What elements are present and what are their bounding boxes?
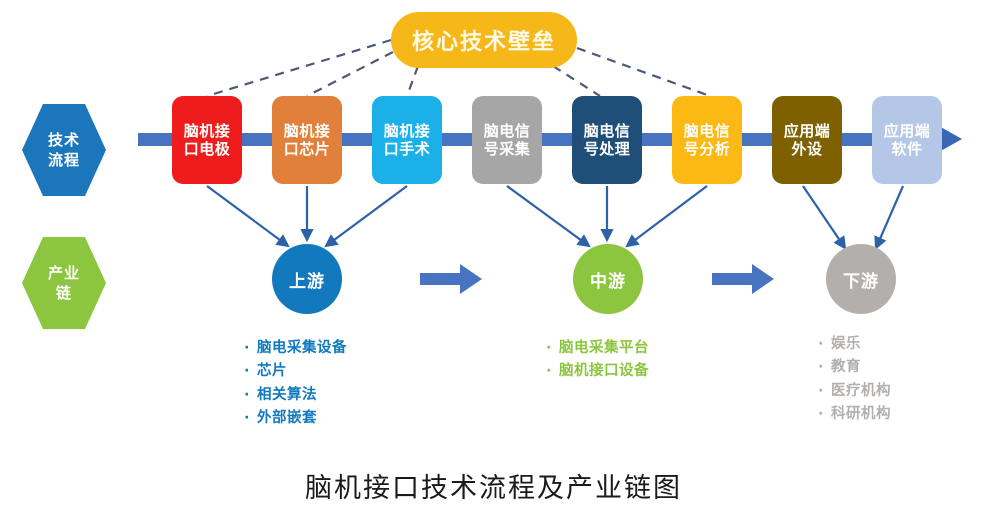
stage-arrow-midstream-to-downstream <box>712 264 774 294</box>
bullet-dot-icon: · <box>546 337 559 360</box>
process-box-analysis-line2: 号分析 <box>684 140 731 158</box>
bullet-dot-icon: · <box>244 337 257 360</box>
process-box-chip-line2: 口芯片 <box>284 140 331 158</box>
bullet-dot-icon: · <box>244 360 257 383</box>
downstream-item-3: 科研机构 <box>831 406 891 422</box>
downstream-item-list: ·娱乐 ·教育 ·医疗机构 ·科研机构 <box>818 333 891 427</box>
process-box-peripheral-line1: 应用端 <box>784 122 831 140</box>
bullet-dot-icon: · <box>818 403 831 426</box>
process-box-signal-acquisition[interactable]: 脑电信 号采集 <box>472 96 542 184</box>
downstream-item-1: 教育 <box>831 359 861 375</box>
list-item: ·教育 <box>818 356 891 379</box>
list-item: ·脑电采集设备 <box>244 337 347 360</box>
downstream-item-0: 娱乐 <box>831 336 861 352</box>
process-box-processing-line1: 脑电信 <box>584 122 631 140</box>
bullet-dot-icon: · <box>818 356 831 379</box>
process-box-electrode-line2: 口电极 <box>184 140 231 158</box>
dashed-link-processing <box>553 66 600 96</box>
arrow-peripheral-downstream <box>803 186 845 248</box>
arrow-electrode-upstream <box>207 186 288 246</box>
dashed-link-analysis <box>577 48 710 96</box>
arrow-analysis-midstream <box>627 186 707 246</box>
chain-node-downstream[interactable]: 下游 <box>826 244 896 314</box>
process-box-surgery-line1: 脑机接 <box>384 122 431 140</box>
hexagon-industry-line2: 链 <box>56 283 72 303</box>
process-box-software-line1: 应用端 <box>884 122 931 140</box>
upstream-item-list: ·脑电采集设备 ·芯片 ·相关算法 ·外部嵌套 <box>244 337 347 431</box>
process-box-surgery-line2: 口手术 <box>384 140 431 158</box>
list-item: ·外部嵌套 <box>244 407 347 430</box>
process-box-analysis-line1: 脑电信 <box>684 122 731 140</box>
figure-caption: 脑机接口技术流程及产业链图 <box>0 466 987 505</box>
dashed-link-surgery <box>407 66 418 96</box>
midstream-item-list: ·脑电采集平台 ·脑机接口设备 <box>546 337 649 384</box>
upstream-item-1: 芯片 <box>257 363 287 379</box>
dashed-link-chip <box>307 52 393 96</box>
downstream-item-2: 医疗机构 <box>831 383 891 399</box>
list-item: ·相关算法 <box>244 384 347 407</box>
process-box-processing-line2: 号处理 <box>584 140 631 158</box>
process-box-chip-line1: 脑机接 <box>284 122 331 140</box>
chain-node-upstream[interactable]: 上游 <box>272 244 342 314</box>
arrow-surgery-upstream <box>326 186 407 246</box>
arrow-software-downstream <box>876 186 903 248</box>
chain-arrows <box>207 186 903 248</box>
process-box-acquisition-line2: 号采集 <box>484 140 531 158</box>
core-barrier-box[interactable]: 核心技术壁垒 <box>391 12 577 68</box>
dashed-link-electrode <box>207 40 391 96</box>
category-hexagon-industry-chain[interactable]: 产业 链 <box>22 237 106 329</box>
list-item: ·芯片 <box>244 360 347 383</box>
process-box-acquisition-line1: 脑电信 <box>484 122 531 140</box>
hexagon-technology-line1: 技术 <box>48 130 80 150</box>
process-box-application-software[interactable]: 应用端 软件 <box>872 96 942 184</box>
list-item: ·脑机接口设备 <box>546 360 649 383</box>
process-box-signal-analysis[interactable]: 脑电信 号分析 <box>672 96 742 184</box>
process-box-signal-processing[interactable]: 脑电信 号处理 <box>572 96 642 184</box>
hexagon-technology-line2: 流程 <box>48 150 80 170</box>
upstream-item-0: 脑电采集设备 <box>257 340 347 356</box>
chain-node-midstream[interactable]: 中游 <box>573 244 643 314</box>
arrow-acquisition-midstream <box>507 186 589 246</box>
bullet-dot-icon: · <box>818 333 831 356</box>
process-box-application-peripheral[interactable]: 应用端 外设 <box>772 96 842 184</box>
upstream-item-3: 外部嵌套 <box>257 410 317 426</box>
list-item: ·脑电采集平台 <box>546 337 649 360</box>
midstream-item-1: 脑机接口设备 <box>559 363 649 379</box>
list-item: ·科研机构 <box>818 403 891 426</box>
stage-arrow-upstream-to-midstream <box>420 264 482 294</box>
process-box-chip[interactable]: 脑机接 口芯片 <box>272 96 342 184</box>
hexagon-industry-line1: 产业 <box>48 263 80 283</box>
diagram-canvas: 核心技术壁垒 技术 流程 产业 链 脑机接 口电极 脑机接 口芯片 脑机接 口手… <box>0 0 987 509</box>
process-box-peripheral-line2: 外设 <box>791 140 822 158</box>
process-box-electrode[interactable]: 脑机接 口电极 <box>172 96 242 184</box>
bullet-dot-icon: · <box>546 360 559 383</box>
category-hexagon-technology[interactable]: 技术 流程 <box>22 104 106 196</box>
bullet-dot-icon: · <box>818 380 831 403</box>
list-item: ·医疗机构 <box>818 380 891 403</box>
bullet-dot-icon: · <box>244 407 257 430</box>
upstream-item-2: 相关算法 <box>257 387 317 403</box>
bullet-dot-icon: · <box>244 384 257 407</box>
process-box-electrode-line1: 脑机接 <box>184 122 231 140</box>
midstream-item-0: 脑电采集平台 <box>559 340 649 356</box>
process-box-software-line2: 软件 <box>891 140 922 158</box>
process-box-surgery[interactable]: 脑机接 口手术 <box>372 96 442 184</box>
list-item: ·娱乐 <box>818 333 891 356</box>
